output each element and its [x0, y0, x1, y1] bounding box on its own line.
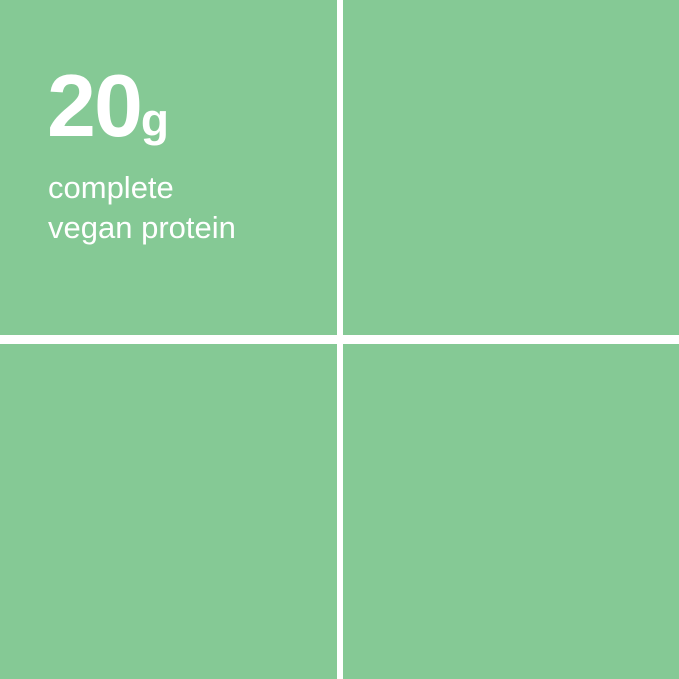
protein-stat-unit: g [141, 94, 168, 146]
panel-taste: mixes well & tastes great with no bad af… [0, 344, 337, 679]
protein-stat-value: 20 [47, 56, 141, 155]
product-benefits-infographic: 20g complete vegan protein [0, 0, 679, 679]
panel-prebiotics: prebiotics to support optimal gut health [343, 0, 679, 335]
protein-stat: 20g [47, 62, 168, 150]
panel-attributes: NON-GMO GLUTEN FREE SOY FREE DAIRY FREE … [343, 344, 679, 679]
panel-protein: 20g complete vegan protein [0, 0, 337, 335]
protein-caption: complete vegan protein [48, 168, 236, 247]
